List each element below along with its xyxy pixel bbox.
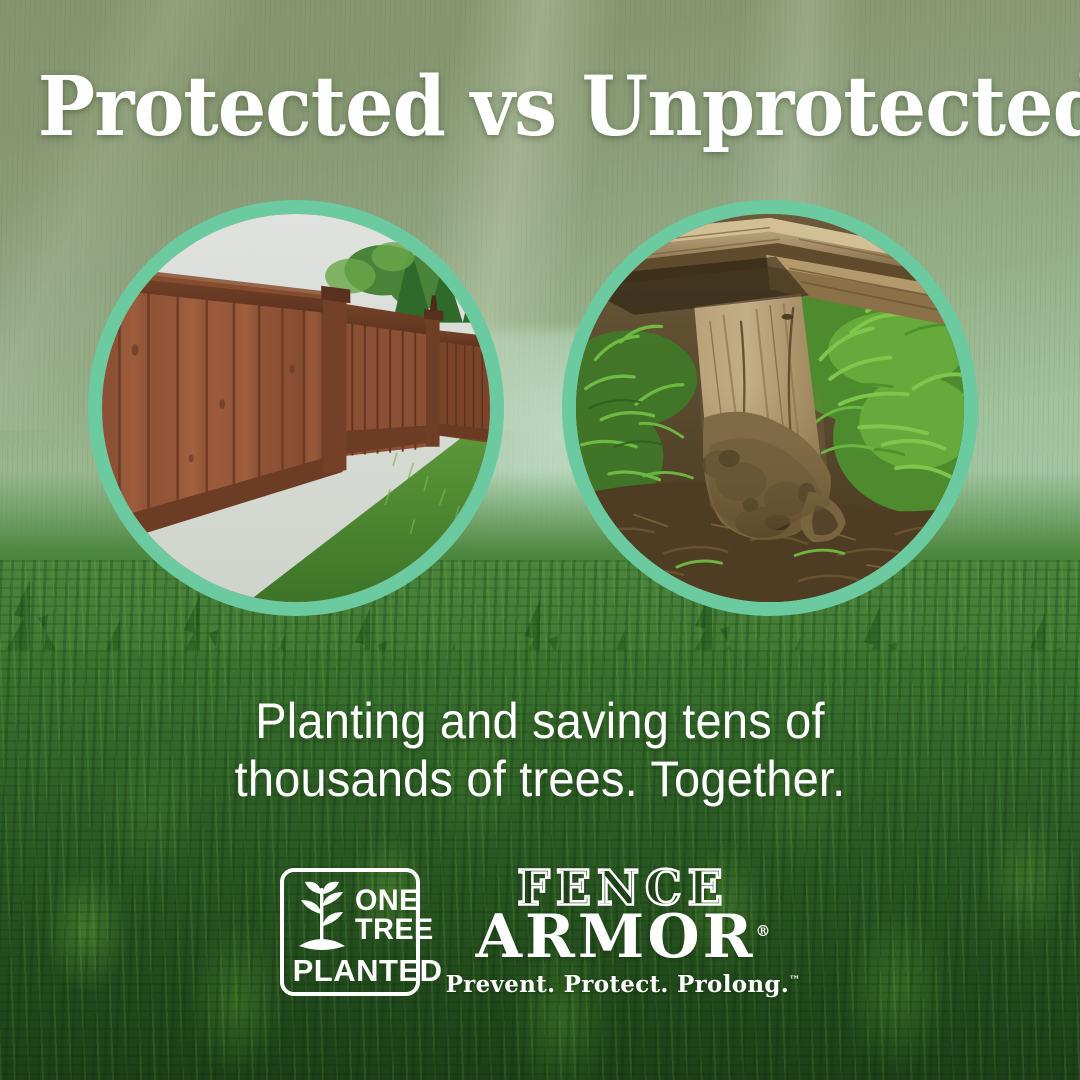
fence-armor-word-armor: ARMOR® (476, 909, 771, 965)
fence-armor-tagline: Prevent. Protect. Prolong.™ (446, 971, 801, 998)
fence-armor-armor-text: ARMOR (476, 902, 756, 972)
otp-words: ONE TREE (355, 887, 437, 945)
subhead-line-1: Planting and saving tens of (32, 692, 1047, 750)
otp-top-row: ONE TREE (293, 880, 407, 952)
unprotected-fence-image (576, 214, 964, 602)
sapling-icon (293, 880, 351, 952)
protected-fence-image (102, 214, 490, 602)
page-title: Protected vs Unprotected (38, 66, 1042, 148)
otp-line-planted: PLANTED (293, 953, 407, 989)
subhead-line-2: thousands of trees. Together. (32, 750, 1047, 808)
subhead-text: Planting and saving tens of thousands of… (32, 692, 1047, 808)
protected-fence-photo (88, 200, 504, 616)
otp-line-tree: TREE (355, 916, 434, 945)
trademark-icon: ™ (789, 973, 800, 986)
poster-canvas: Protected vs Unprotected (0, 0, 1080, 1080)
registered-trademark-icon: ® (755, 922, 770, 940)
otp-line-one: ONE (355, 887, 434, 916)
logo-bar: ONE TREE PLANTED FENCE ARMOR® Prevent. P… (0, 862, 1080, 1002)
one-tree-planted-logo[interactable]: ONE TREE PLANTED (280, 868, 420, 996)
fence-armor-tagline-text: Prevent. Protect. Prolong. (446, 971, 790, 998)
unprotected-fence-photo (562, 200, 978, 616)
fence-armor-logo[interactable]: FENCE ARMOR® Prevent. Protect. Prolong.™ (446, 866, 801, 997)
